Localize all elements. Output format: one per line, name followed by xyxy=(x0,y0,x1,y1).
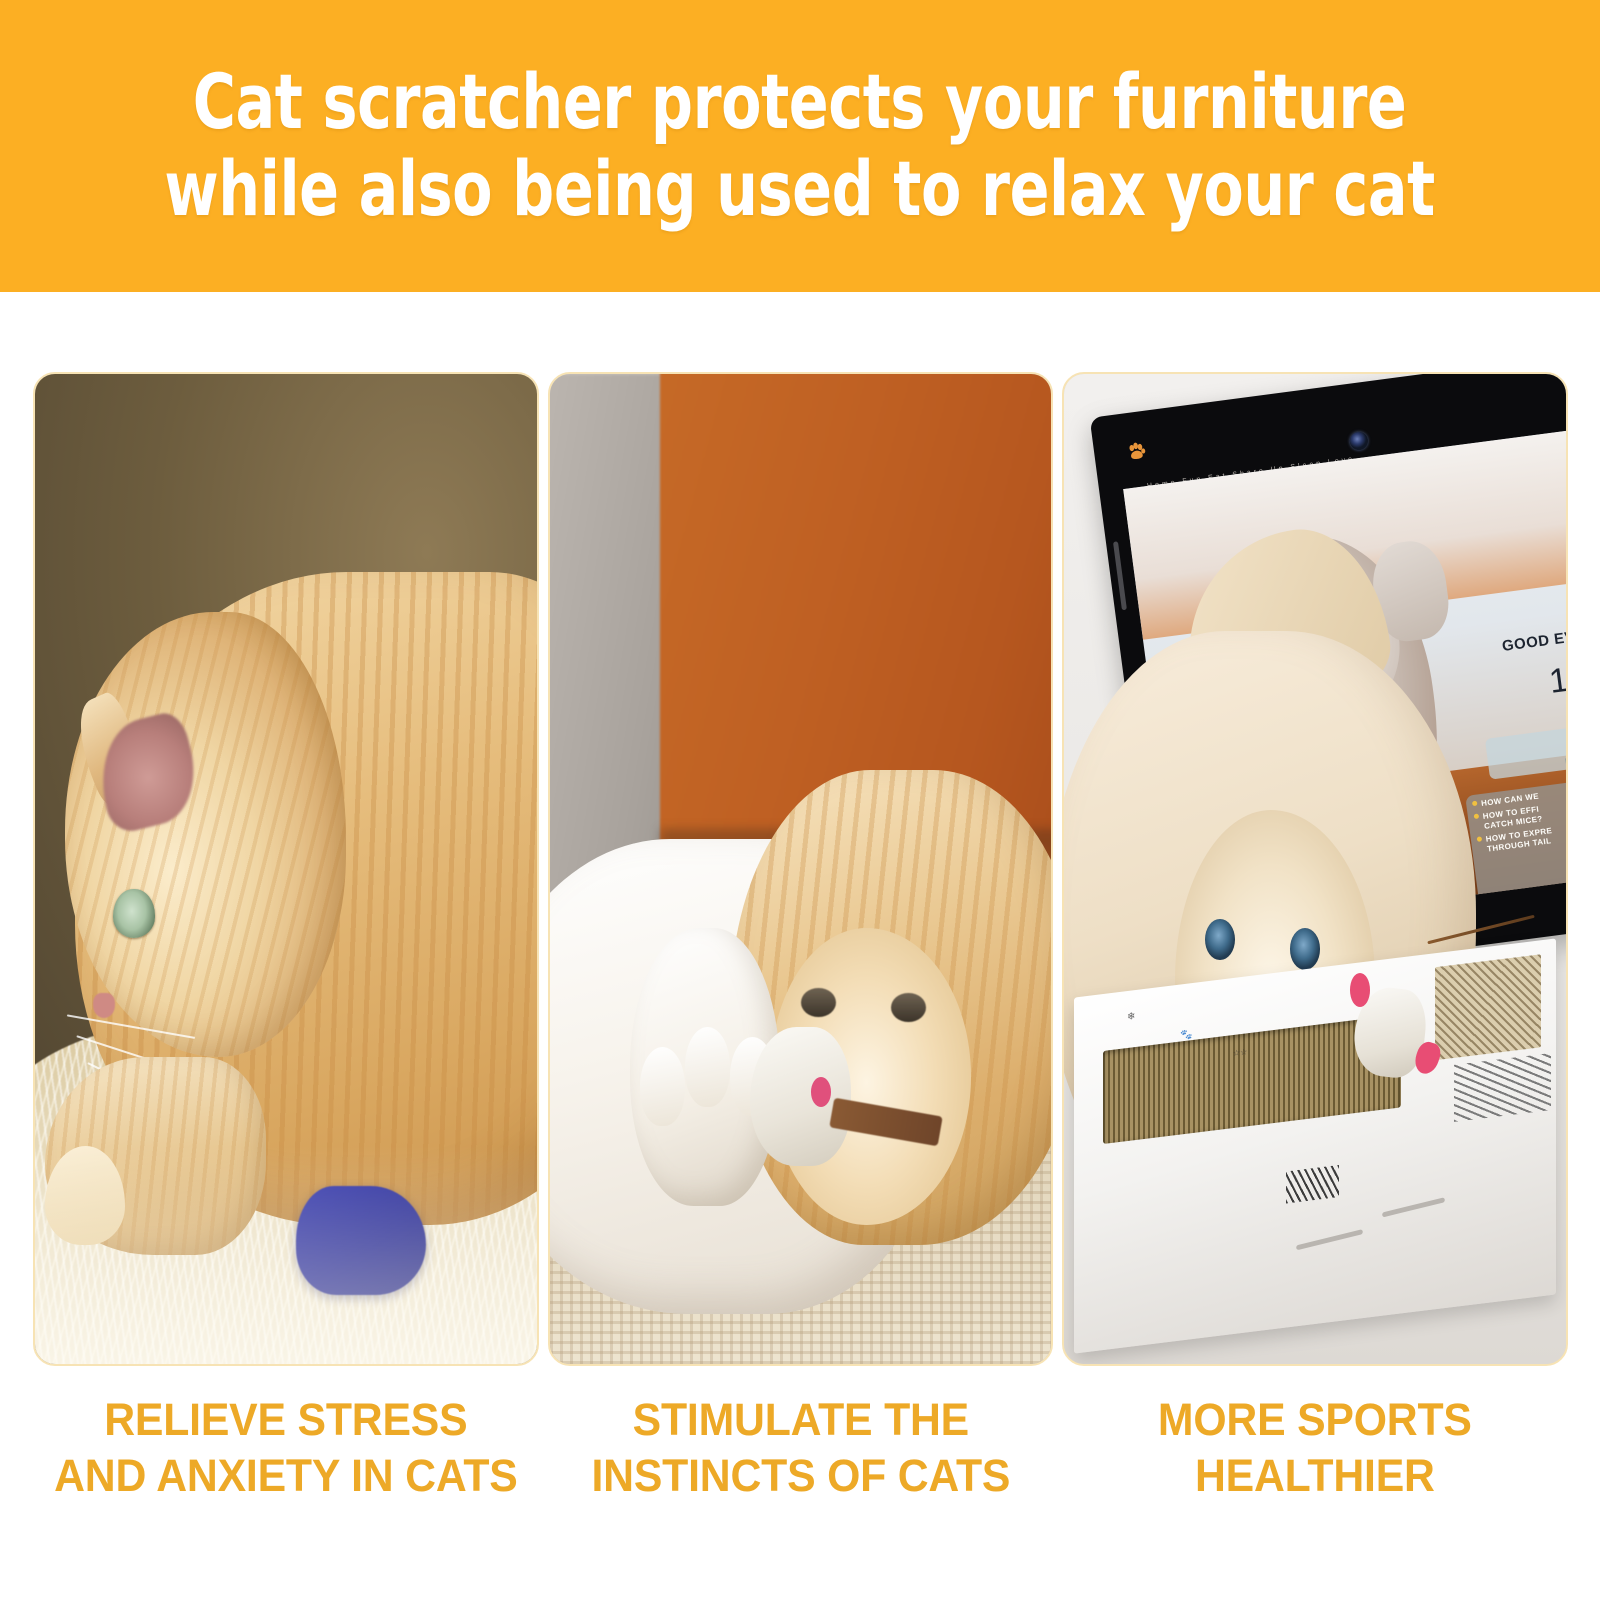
feature-panel-2[interactable] xyxy=(548,372,1054,1366)
caption-row: RELIEVE STRESS AND ANXIETY IN CATS STIMU… xyxy=(33,1392,1568,1504)
cat-eye xyxy=(113,889,156,939)
toy-mouse xyxy=(750,1027,850,1166)
bullet-icon xyxy=(1476,836,1482,842)
panel1-foreground-haze xyxy=(35,1146,537,1364)
scratcher-handle-slot xyxy=(1296,1229,1364,1250)
cat-head xyxy=(65,612,346,1058)
scratcher-vent-pattern xyxy=(1455,1053,1551,1122)
caption-panel-2: STIMULATE THE INSTINCTS OF CATS xyxy=(560,1392,1040,1504)
screen-search-bar[interactable]: MESS xyxy=(1484,724,1566,779)
tablet-side-button[interactable] xyxy=(1113,541,1127,610)
photo-cat-with-toy-mouse xyxy=(550,374,1052,1364)
bullet-icon xyxy=(1471,800,1477,806)
kitten-eye xyxy=(1290,928,1320,970)
paw-stamp-icon: 🐾 xyxy=(1180,1029,1192,1042)
cat-toe xyxy=(685,1027,730,1106)
feature-panel-3[interactable]: Home Fun Eat Share Up Sleep Love GOOD EV… xyxy=(1062,372,1568,1366)
scratcher-corrugated-pad xyxy=(1436,954,1542,1060)
search-placeholder: MESS xyxy=(1564,753,1566,767)
header-banner: Cat scratcher protects your furniture wh… xyxy=(0,0,1600,292)
cat-eye xyxy=(891,993,926,1023)
screen-tips-card[interactable]: HOW CAN WE HOW TO EFFI CATCH MICE? HOW T… xyxy=(1465,776,1566,912)
logo-text-icon: ☆☆ xyxy=(1233,1048,1247,1059)
toy-mouse-nose xyxy=(811,1077,831,1107)
paw-icon xyxy=(1124,439,1149,464)
bullet-icon xyxy=(1473,813,1479,819)
cat-toe xyxy=(640,1047,685,1126)
scratcher-handle-slot xyxy=(1383,1198,1446,1218)
caption-panel-3: MORE SPORTS HEALTHIER xyxy=(1075,1392,1555,1504)
caption-panel-1: RELIEVE STRESS AND ANXIETY IN CATS xyxy=(46,1392,526,1504)
leaf-icon: ❄ xyxy=(1127,1011,1135,1023)
feature-panel-1[interactable] xyxy=(33,372,539,1366)
photo-kitten-on-scratcher-box: Home Fun Eat Share Up Sleep Love GOOD EV… xyxy=(1064,374,1566,1364)
feature-panel-row: Home Fun Eat Share Up Sleep Love GOOD EV… xyxy=(33,372,1568,1366)
cat-nose xyxy=(93,993,115,1019)
screen-clock: 19 xyxy=(1546,658,1566,702)
toy-mouse-ear xyxy=(1350,973,1370,1007)
cardboard-scratcher-box: ❄ 🐾 ☆☆ xyxy=(1074,938,1556,1354)
claw-mark-icon xyxy=(1286,1165,1339,1204)
cat-eye xyxy=(801,988,836,1018)
page-title: Cat scratcher protects your furniture wh… xyxy=(165,59,1435,232)
screen-greeting: GOOD EVE xyxy=(1501,627,1567,655)
kitten-eye xyxy=(1205,919,1235,961)
photo-cat-on-sisal-mat xyxy=(35,374,537,1364)
camera-icon xyxy=(1349,430,1369,450)
